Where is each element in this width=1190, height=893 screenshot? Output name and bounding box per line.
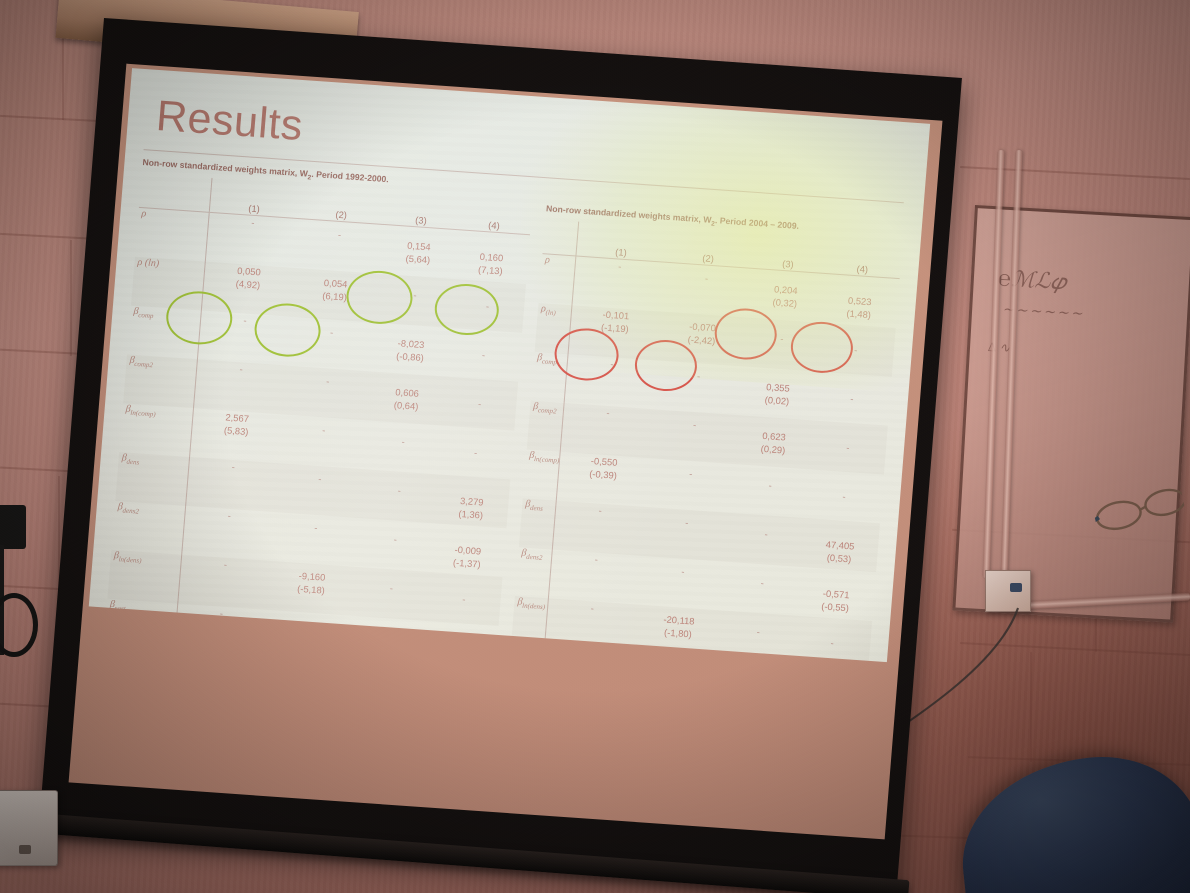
row-label: βln(dens) — [107, 550, 181, 604]
empty-value: - — [745, 330, 819, 348]
row-label: βdens2 — [111, 501, 185, 555]
table-cell: - — [743, 318, 820, 372]
table-cell: - — [425, 572, 502, 626]
empty-value: - — [817, 341, 894, 360]
table-cell: 0,204(0,32) — [747, 268, 824, 322]
table-cell: - — [278, 414, 369, 469]
table-cell: 0,154(5,64) — [380, 225, 457, 279]
empty-value: - — [794, 634, 871, 653]
table-cell: - — [727, 513, 804, 567]
empty-value: - — [647, 464, 735, 483]
row-label: βln(comp) — [119, 403, 193, 457]
table-cell: - — [270, 512, 361, 567]
table-cell: - — [564, 354, 656, 409]
left-results-table: (1)(2)(3)(4)ρ--0,154(5,64)0,160(7,13)ρ (… — [96, 173, 533, 662]
table-cell: - — [792, 616, 872, 662]
row-label: βln(comp) — [523, 450, 561, 501]
table-cell: -0,070(-2,42) — [656, 312, 747, 367]
outlet-socket — [1010, 583, 1022, 592]
row-label: ρ — [135, 207, 209, 261]
table-cell: - — [274, 463, 365, 518]
wall-mortar-line — [960, 642, 1190, 656]
table-cell: 0,523(1,48) — [820, 273, 900, 328]
table-corner-cell — [543, 219, 579, 256]
empty-value: - — [733, 476, 807, 494]
table-cell: -0,571(-0,55) — [796, 567, 876, 621]
table-cell: - — [360, 469, 437, 523]
empty-value: - — [447, 346, 521, 364]
empty-value: - — [643, 513, 731, 532]
table-cell: - — [205, 212, 297, 267]
table-cell: - — [178, 555, 270, 610]
table-cell: - — [197, 310, 289, 365]
empty-value: - — [813, 389, 890, 408]
table-cell: 0,355(0,02) — [739, 366, 816, 420]
table-cell: -0,101(-1,19) — [568, 305, 660, 360]
table-cell: 0,606(0,64) — [368, 372, 445, 426]
table-cell: - — [553, 501, 645, 556]
table-cell: - — [376, 274, 453, 328]
column-header-4: (4) — [824, 239, 903, 279]
table-cell: -0,550(-0,39) — [557, 452, 649, 507]
empty-value: - — [439, 443, 513, 461]
table-cell: 0,054(6,19) — [289, 268, 380, 323]
empty-value: - — [721, 623, 795, 641]
table-cell: - — [356, 518, 433, 572]
equipment-box — [0, 790, 58, 866]
row-label: ρ — [539, 254, 577, 306]
table-cell: - — [641, 507, 732, 562]
table-cell: -8,023(-0,86) — [372, 323, 449, 377]
table-cell: 2,567(5,83) — [190, 408, 282, 463]
empty-value: - — [296, 225, 384, 244]
row-label: ρ(ln) — [535, 303, 573, 354]
table-cell: - — [282, 365, 373, 420]
table-cell: - — [182, 506, 274, 561]
table-cell: - — [648, 409, 739, 464]
table-cell: - — [560, 403, 652, 458]
empty-value: - — [366, 432, 440, 450]
wall-joint-line — [1030, 652, 1032, 762]
table-cell: -9,160(-5,18) — [266, 561, 357, 616]
empty-value: - — [288, 323, 376, 342]
table-cell: 0,050(4,92) — [201, 262, 293, 317]
empty-value: - — [358, 530, 432, 548]
table-cell: - — [645, 458, 736, 513]
empty-value: - — [663, 269, 751, 288]
projection-screen: Results Non-row standardized weights mat… — [39, 18, 962, 890]
table-cell: - — [816, 323, 896, 377]
empty-value: - — [354, 579, 428, 597]
row-label: βcomp — [531, 352, 569, 403]
classroom-scene: ℮ℳℒ𝜑 ∼∼∼∼∼∼ ∆ ∿ Results Non-row standard… — [0, 0, 1190, 893]
whiteboard-scribble: ℮ℳℒ𝜑 — [997, 265, 1067, 295]
empty-value: - — [651, 415, 739, 434]
empty-value: - — [280, 420, 368, 439]
row-label: ρ (ln) — [131, 257, 205, 311]
empty-value: - — [655, 366, 743, 385]
row-label: βdens — [115, 452, 189, 506]
table-cell: - — [723, 562, 800, 616]
table-cell: - — [637, 556, 728, 611]
table-cell: - — [293, 218, 384, 273]
table-cell: 0,160(7,13) — [453, 230, 530, 284]
empty-value: - — [427, 590, 501, 608]
row-label: βdens — [519, 498, 557, 549]
table-cell: - — [660, 262, 751, 317]
page-title: Results — [154, 92, 304, 151]
camera-body — [0, 505, 26, 549]
table-cell: 0,623(0,29) — [735, 415, 812, 469]
row-label: βcomp2 — [527, 401, 565, 452]
table-cell: - — [808, 420, 888, 474]
table-cell: - — [285, 317, 376, 372]
projected-slide: Results Non-row standardized weights mat… — [89, 68, 930, 662]
person-shoulder — [953, 747, 1190, 893]
box-knob — [19, 845, 31, 854]
wall-joint-line — [70, 240, 72, 356]
empty-value: - — [450, 297, 524, 315]
table-cell: - — [437, 425, 514, 479]
empty-value: - — [284, 371, 372, 390]
table-cell: - — [441, 377, 518, 431]
table-corner-cell — [139, 173, 212, 212]
column-header-3: (3) — [751, 234, 827, 273]
wall-outlet — [985, 570, 1031, 612]
row-label: βdens2 — [515, 547, 553, 598]
empty-value: - — [729, 525, 803, 543]
empty-value: - — [806, 487, 883, 506]
table-cell: 3,279(1,36) — [433, 474, 510, 528]
table-cell: - — [804, 469, 884, 523]
table-cell: - — [449, 279, 526, 333]
row-label: βcomp2 — [123, 354, 197, 408]
table-cell: - — [193, 359, 285, 414]
row-label: βcomp — [127, 306, 201, 360]
camera-strap — [0, 593, 38, 657]
right-caption-suffix: . Period 2004 – 2009. — [715, 215, 800, 231]
table-cell: - — [364, 420, 441, 474]
table-cell: - — [731, 464, 808, 518]
table-cell: - — [186, 457, 278, 512]
empty-value: - — [639, 562, 727, 581]
empty-value: - — [725, 574, 799, 592]
camera-on-tripod — [0, 505, 32, 655]
table-cell: 47,405(0,53) — [800, 518, 880, 572]
column-header-3: (3) — [384, 190, 460, 229]
empty-value: - — [810, 438, 887, 457]
table-cell: - — [572, 256, 664, 311]
left-caption-suffix: . Period 1992-2000. — [311, 169, 389, 184]
table-cell: - — [353, 567, 430, 621]
table-cell: - — [549, 550, 641, 605]
table-cell: - — [652, 360, 743, 415]
table-cell: - — [445, 328, 522, 382]
wall-mortar-line — [960, 166, 1190, 180]
table-cell: -0,009(-1,37) — [429, 523, 506, 577]
empty-value: - — [272, 518, 360, 537]
empty-value: - — [443, 395, 517, 413]
empty-value: - — [378, 286, 452, 304]
column-header-4: (4) — [457, 195, 533, 234]
table-cell: - — [812, 372, 892, 426]
right-results-table: (1)(2)(3)(4)ρ--0,204(0,32)0,523(1,48)ρ(l… — [499, 219, 902, 662]
empty-value: - — [276, 469, 364, 488]
empty-value: - — [362, 481, 436, 499]
